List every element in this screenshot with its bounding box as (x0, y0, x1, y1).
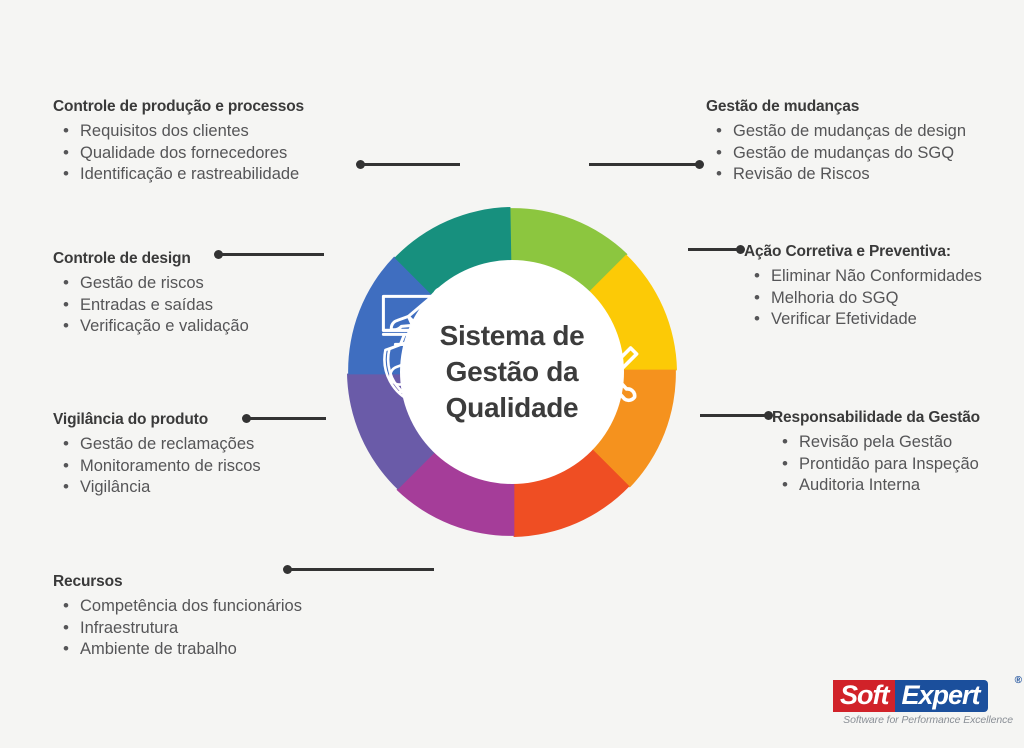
leader-line (688, 248, 740, 251)
list-item: Gestão de riscos (53, 273, 249, 295)
center-title-line2: Gestão da (440, 354, 585, 390)
softexpert-logo[interactable]: Soft Expert ® Software for Performance E… (833, 680, 1013, 726)
block-title: Controle de produção e processos (53, 97, 304, 117)
infographic-canvas: Sistema de Gestão da Qualidade Controle … (0, 0, 1024, 748)
logo-soft-text: Soft (833, 680, 895, 712)
list-item: Qualidade dos fornecedores (53, 143, 304, 165)
block-list: Eliminar Não Conformidades Melhoria do S… (744, 266, 982, 331)
block-list: Gestão de riscos Entradas e saídas Verif… (53, 273, 249, 338)
center-hub: Sistema de Gestão da Qualidade (400, 260, 624, 484)
list-item: Gestão de reclamações (53, 434, 288, 456)
list-item: Verificação e validação (53, 316, 249, 338)
block-list: Revisão pela Gestão Prontidão para Inspe… (772, 432, 980, 497)
logo-expert-text: Expert (895, 680, 987, 712)
block-title: Gestão de mudanças (706, 97, 966, 117)
block-title: Vigilância do produto (53, 410, 288, 430)
list-item: Melhoria do SGQ (744, 288, 982, 310)
leader-recursos (283, 565, 443, 577)
block-vigilancia-produto: Vigilância do produto Gestão de reclamaç… (53, 410, 288, 499)
logo-tagline: Software for Performance Excellence (833, 714, 1013, 726)
center-title: Sistema de Gestão da Qualidade (440, 318, 585, 426)
list-item: Revisão de Riscos (706, 164, 966, 186)
list-item: Gestão de mudanças de design (706, 121, 966, 143)
block-list: Requisitos dos clientes Qualidade dos fo… (53, 121, 304, 186)
leader-acao-corretiva (688, 245, 745, 257)
list-item: Ambiente de trabalho (53, 639, 302, 661)
block-gestao-mudancas: Gestão de mudanças Gestão de mudanças de… (706, 97, 966, 186)
list-item: Eliminar Não Conformidades (744, 266, 982, 288)
leader-line (362, 163, 460, 166)
block-list: Gestão de reclamações Monitoramento de r… (53, 434, 288, 499)
list-item: Auditoria Interna (772, 475, 980, 497)
block-recursos: Recursos Competência dos funcionários In… (53, 572, 302, 661)
list-item: Vigilância (53, 477, 288, 499)
center-title-line3: Qualidade (440, 390, 585, 426)
list-item: Requisitos dos clientes (53, 121, 304, 143)
list-item: Entradas e saídas (53, 295, 249, 317)
block-list: Competência dos funcionários Infraestrut… (53, 596, 302, 661)
block-controle-producao: Controle de produção e processos Requisi… (53, 97, 304, 186)
block-list: Gestão de mudanças de design Gestão de m… (706, 121, 966, 186)
logo-wordmark: Soft Expert ® (833, 680, 1013, 712)
leader-mudancas (589, 160, 704, 172)
leader-responsabilidade (700, 411, 773, 423)
list-item: Verificar Efetividade (744, 309, 982, 331)
leader-line (700, 414, 768, 417)
block-acao-corretiva: Ação Corretiva e Preventiva: Eliminar Nã… (744, 242, 982, 331)
list-item: Gestão de mudanças do SGQ (706, 143, 966, 165)
block-controle-design: Controle de design Gestão de riscos Entr… (53, 249, 249, 338)
block-title: Ação Corretiva e Preventiva: (744, 242, 982, 262)
block-title: Recursos (53, 572, 302, 592)
list-item: Competência dos funcionários (53, 596, 302, 618)
list-item: Revisão pela Gestão (772, 432, 980, 454)
block-responsabilidade-gestao: Responsabilidade da Gestão Revisão pela … (772, 408, 980, 497)
block-title: Responsabilidade da Gestão (772, 408, 980, 428)
registered-mark-icon: ® (1015, 675, 1022, 686)
block-title: Controle de design (53, 249, 249, 269)
leader-line (289, 568, 434, 571)
list-item: Prontidão para Inspeção (772, 454, 980, 476)
leader-line (589, 163, 699, 166)
list-item: Identificação e rastreabilidade (53, 164, 304, 186)
list-item: Monitoramento de riscos (53, 456, 288, 478)
center-title-line1: Sistema de (440, 318, 585, 354)
leader-producao (356, 160, 466, 172)
list-item: Infraestrutura (53, 618, 302, 640)
